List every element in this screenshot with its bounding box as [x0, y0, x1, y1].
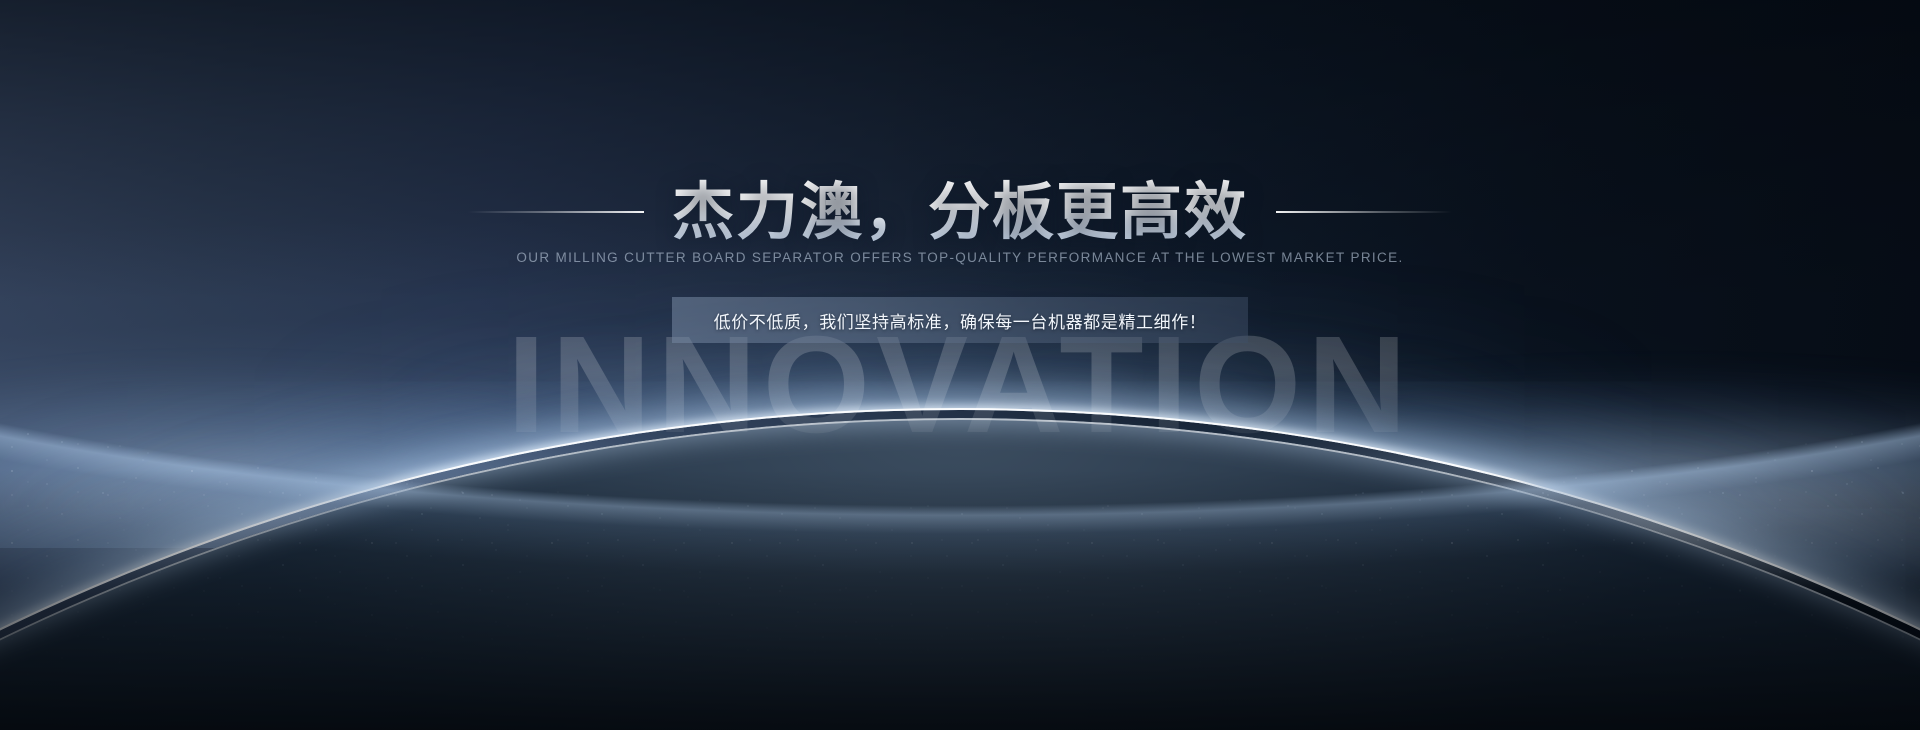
decorative-rule-left — [468, 211, 644, 213]
highlight-banner: 低价不低质，我们坚持高标准，确保每一台机器都是精工细作！ — [672, 297, 1248, 343]
bottom-fade-overlay — [0, 470, 1920, 730]
banner-row: 低价不低质，我们坚持高标准，确保每一台机器都是精工细作！ — [0, 297, 1920, 343]
subtitle-text: OUR MILLING CUTTER BOARD SEPARATOR OFFER… — [0, 250, 1920, 265]
decorative-rule-right — [1276, 211, 1452, 213]
page-title: 杰力澳，分板更高效 — [672, 176, 1248, 249]
hero-banner: INNOVATION 杰力澳，分板更高效 OUR MILLING CUTTER … — [0, 0, 1920, 730]
headline-row: 杰力澳，分板更高效 — [0, 134, 1920, 290]
